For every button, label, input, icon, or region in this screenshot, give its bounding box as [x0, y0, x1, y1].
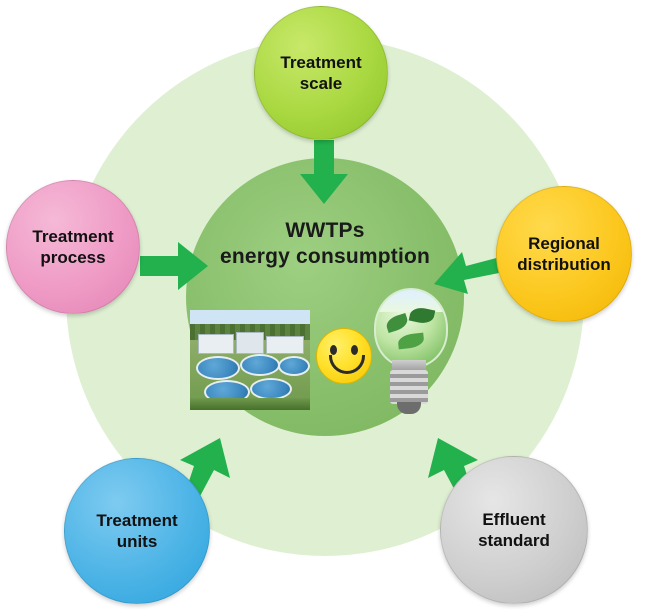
bubble-treatment-process[interactable]: Treatment process: [6, 180, 140, 314]
diagram-canvas: WWTPs energy consumption Treatment scale…: [0, 0, 650, 610]
bubble-effluent-standard-line1: Effluent: [472, 509, 556, 530]
bubble-regional-distribution-label: Regional distribution: [505, 233, 622, 275]
plant-building: [198, 334, 234, 354]
wastewater-treatment-plant-photo: [190, 310, 310, 410]
bubble-treatment-units-line1: Treatment: [90, 510, 183, 531]
bubble-regional-distribution-line2: distribution: [511, 254, 616, 275]
aeration-tank: [278, 356, 310, 376]
smiley-face-icon: [316, 328, 372, 384]
bulb-glass: [374, 288, 448, 368]
smiley-mouth: [329, 355, 365, 374]
bubble-treatment-units-label: Treatment units: [84, 510, 189, 552]
center-title: WWTPs energy consumption: [196, 218, 454, 270]
bubble-treatment-scale-line1: Treatment: [274, 52, 367, 73]
bubble-treatment-process-label: Treatment process: [20, 226, 125, 268]
plant-building: [266, 336, 304, 354]
bulb-screw-base: [390, 370, 428, 404]
green-light-bulb-icon: [366, 288, 452, 418]
bubble-regional-distribution[interactable]: Regional distribution: [496, 186, 632, 322]
arrow-treatment-scale: [294, 140, 354, 206]
bubble-effluent-standard-label: Effluent standard: [466, 509, 562, 551]
aeration-tank: [250, 378, 292, 400]
smiley-eye: [330, 345, 337, 355]
leaf-icon: [397, 333, 424, 350]
leaf-icon: [384, 313, 409, 333]
bubble-effluent-standard[interactable]: Effluent standard: [440, 456, 588, 604]
bubble-treatment-process-line2: process: [26, 247, 119, 268]
bulb-sky: [376, 290, 446, 312]
center-title-line1: WWTPs: [196, 218, 454, 244]
bubble-treatment-scale-label: Treatment scale: [268, 52, 373, 94]
bubble-effluent-standard-line2: standard: [472, 530, 556, 551]
bubble-treatment-units-line2: units: [90, 531, 183, 552]
bubble-regional-distribution-line1: Regional: [511, 233, 616, 254]
smiley-eye: [351, 345, 358, 355]
bubble-treatment-units[interactable]: Treatment units: [64, 458, 210, 604]
center-title-line2: energy consumption: [196, 244, 454, 270]
bubble-treatment-scale[interactable]: Treatment scale: [254, 6, 388, 140]
plant-building: [236, 332, 264, 354]
bubble-treatment-scale-line2: scale: [274, 73, 367, 94]
aeration-tank: [196, 356, 240, 380]
aeration-tank: [240, 354, 280, 376]
grass-strip: [190, 398, 310, 410]
bubble-treatment-process-line1: Treatment: [26, 226, 119, 247]
bulb-tip: [397, 402, 421, 414]
